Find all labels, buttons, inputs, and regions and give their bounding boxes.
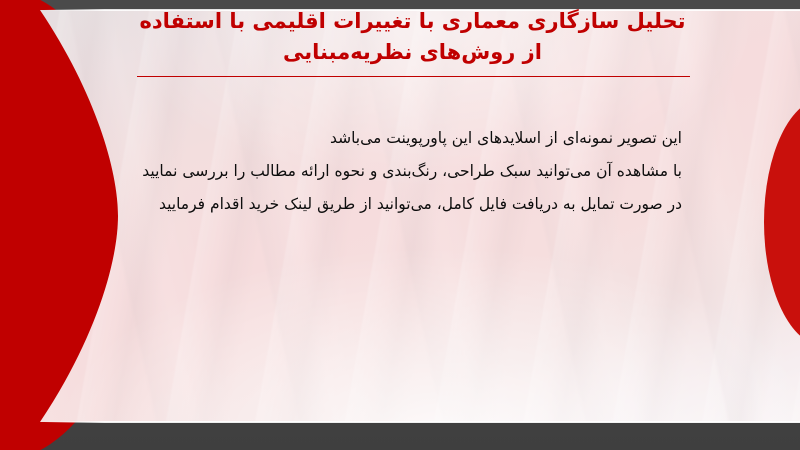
presentation-slide: تحلیل سازگاری معماری با تغییرات اقلیمی ب… xyxy=(0,0,800,450)
slide-title-line-2: از روش‌های نظریه‌مبنایی xyxy=(135,37,690,68)
slide-title: تحلیل سازگاری معماری با تغییرات اقلیمی ب… xyxy=(135,6,690,68)
panel-bottom-highlight xyxy=(44,421,800,423)
body-line-2: با مشاهده آن می‌توانید سبک طراحی، رنگ‌بن… xyxy=(112,155,682,188)
slide-body-text: این تصویر نمونه‌ای از اسلایدهای این پاور… xyxy=(112,122,682,221)
slide-title-line-1: تحلیل سازگاری معماری با تغییرات اقلیمی ب… xyxy=(135,6,690,37)
body-line-1: این تصویر نمونه‌ای از اسلایدهای این پاور… xyxy=(112,122,682,155)
title-divider-rule xyxy=(137,76,690,77)
body-line-3: در صورت تمایل به دریافت فایل کامل، می‌تو… xyxy=(112,188,682,221)
